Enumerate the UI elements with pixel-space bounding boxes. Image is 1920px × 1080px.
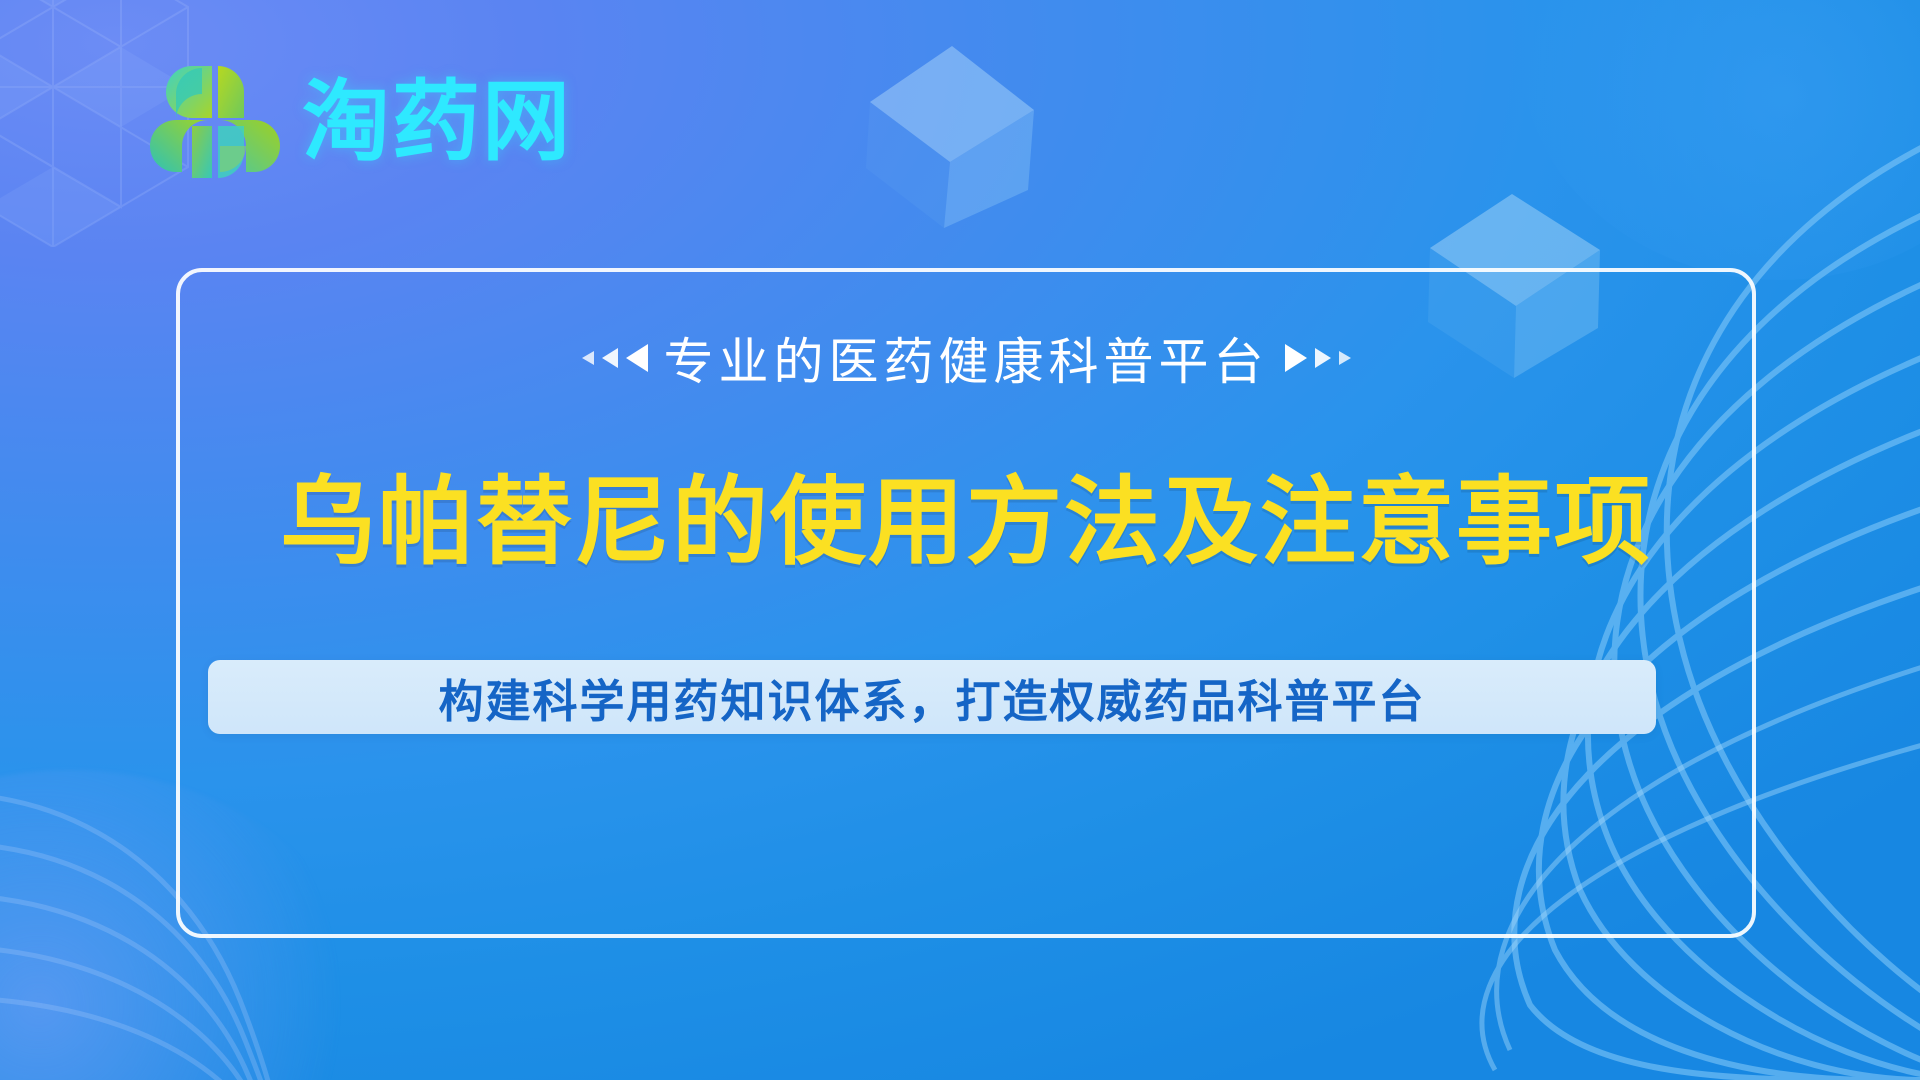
footer-tagline-pill: 构建科学用药知识体系，打造权威药品科普平台 [208,660,1656,734]
brand-name: 淘药网 [302,78,572,166]
subtitle-row: 专业的医药健康科普平台 [180,322,1752,394]
glow-blob-top-right [1520,0,1920,280]
subtitle-text: 专业的医药健康科普平台 [664,322,1269,394]
page-title: 乌帕替尼的使用方法及注意事项 [180,444,1752,583]
cube-small-icon [852,14,1068,234]
triangle-left-icon [580,342,648,374]
banner-canvas: 淘药网 专业的医药健康科普平台 乌帕替尼的使用方法及注意事项 构建科学用药知识体… [0,0,1920,1080]
pinwheel-cross-icon [150,58,280,186]
content-frame: 专业的医药健康科普平台 乌帕替尼的使用方法及注意事项 构建科学用药知识体系，打造… [176,268,1756,938]
triangle-right-icon [1285,342,1353,374]
footer-tagline-text: 构建科学用药知识体系，打造权威药品科普平台 [438,665,1425,730]
brand-logo[interactable]: 淘药网 [150,58,572,186]
